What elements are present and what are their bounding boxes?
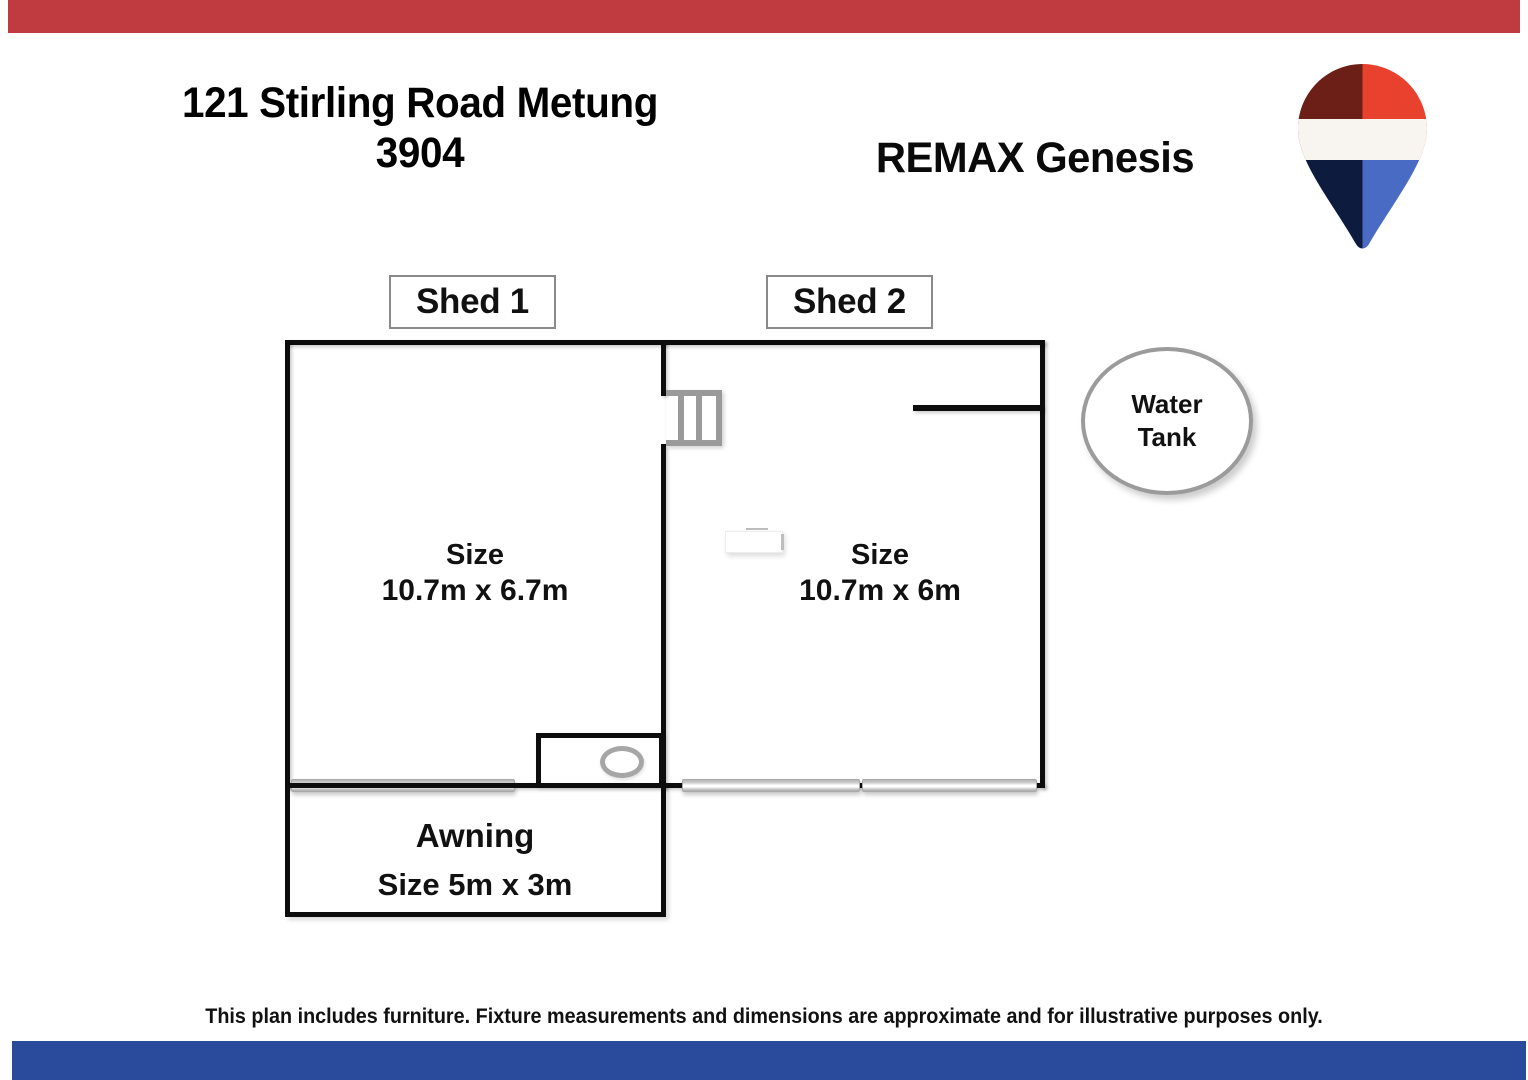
bifold-door-icon bbox=[666, 390, 722, 446]
shed1-tag: Shed 1 bbox=[389, 275, 556, 329]
basin-icon bbox=[600, 746, 644, 778]
bench-tick-top bbox=[746, 528, 768, 530]
roller-door-shed2-left bbox=[682, 779, 860, 792]
title-line-1: 121 Stirling Road Metung bbox=[182, 79, 658, 127]
dividing-wall-upper bbox=[661, 340, 666, 396]
shed2-size-value: 10.7m x 6m bbox=[730, 573, 1030, 610]
shed2-size-caption: Size 10.7m x 6m bbox=[730, 538, 1030, 610]
shed2-wall-stub bbox=[913, 405, 1043, 411]
awning-size-value: Size 5m x 3m bbox=[378, 867, 573, 902]
shed1-size-value: 10.7m x 6.7m bbox=[320, 573, 630, 610]
remax-balloon-icon bbox=[1285, 62, 1440, 258]
disclaimer-text: This plan includes furniture. Fixture me… bbox=[61, 1004, 1467, 1029]
awning-caption: Awning Size 5m x 3m bbox=[300, 810, 650, 909]
shed2-tag: Shed 2 bbox=[766, 275, 933, 329]
water-tank-label: Water Tank bbox=[1131, 388, 1202, 455]
shed2-tag-label: Shed 2 bbox=[793, 282, 906, 322]
water-tank-line-1: Water bbox=[1131, 388, 1202, 421]
bottom-brand-bar bbox=[12, 1041, 1526, 1080]
bifold-mullion-2 bbox=[696, 396, 702, 440]
shed2-size-label: Size bbox=[730, 538, 1030, 573]
page-title: 121 Stirling Road Metung 3904 bbox=[119, 78, 721, 179]
shed1-size-caption: Size 10.7m x 6.7m bbox=[320, 538, 630, 610]
water-tank-line-2: Tank bbox=[1131, 421, 1202, 454]
shed1-size-label: Size bbox=[320, 538, 630, 573]
roller-door-shed2-right bbox=[862, 779, 1037, 792]
bifold-mullion-1 bbox=[678, 396, 684, 440]
title-line-2: 3904 bbox=[119, 128, 721, 178]
awning-title: Awning bbox=[300, 810, 650, 861]
shed2-north-wall bbox=[661, 340, 1045, 345]
shed1-north-wall bbox=[285, 340, 665, 345]
top-brand-bar bbox=[8, 0, 1520, 33]
floor-plan-page: 121 Stirling Road Metung 3904 REMAX Gene… bbox=[0, 0, 1528, 1080]
water-tank: Water Tank bbox=[1081, 347, 1253, 495]
shed1-tag-label: Shed 1 bbox=[416, 282, 529, 322]
shed1-west-wall bbox=[285, 340, 290, 788]
brand-name: REMAX Genesis bbox=[797, 134, 1272, 183]
